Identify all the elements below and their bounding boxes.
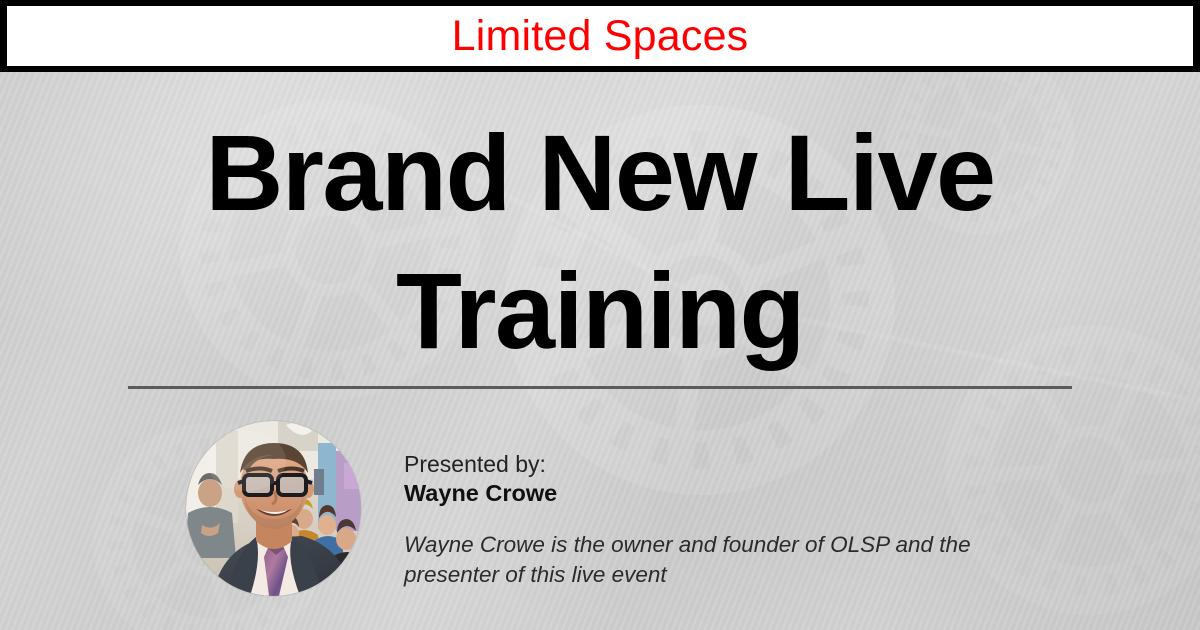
banner-label: Limited Spaces xyxy=(452,15,749,58)
presenter-block: Presented by: Wayne Crowe Wayne Crowe is… xyxy=(186,421,1086,596)
presenter-photo xyxy=(186,421,361,596)
presenter-details: Presented by: Wayne Crowe Wayne Crowe is… xyxy=(404,421,1024,590)
presented-by-label: Presented by: xyxy=(404,450,1024,478)
page-title: Brand New Live Training xyxy=(0,104,1200,380)
avatar xyxy=(186,421,361,596)
horizontal-divider xyxy=(128,386,1072,389)
limited-spaces-banner: Limited Spaces xyxy=(0,0,1200,72)
presenter-bio: Wayne Crowe is the owner and founder of … xyxy=(404,530,1024,590)
presenter-name: Wayne Crowe xyxy=(404,479,1024,508)
title-container: Brand New Live Training xyxy=(0,104,1200,380)
promo-slide: Limited Spaces Brand New Live Training xyxy=(0,0,1200,630)
